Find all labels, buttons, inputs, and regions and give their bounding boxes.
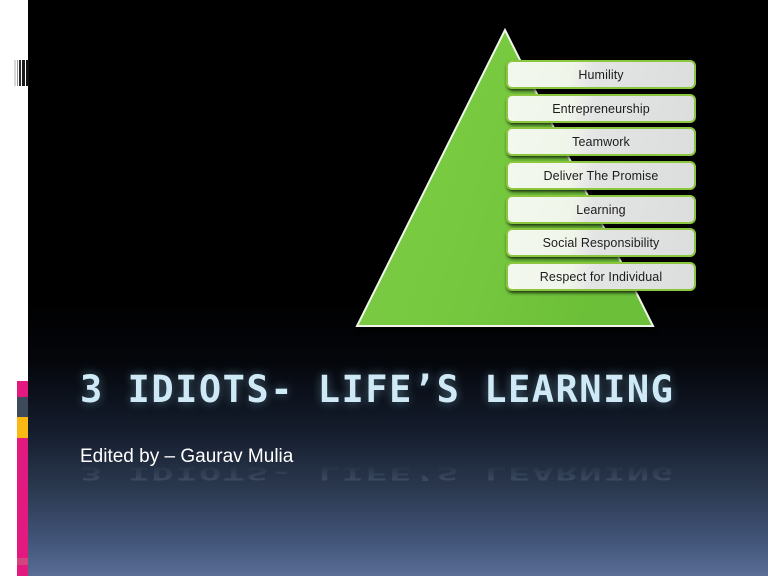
pyramid-level-label: Social Responsibility (543, 236, 660, 250)
barcode-stripe (26, 60, 29, 86)
accent-bar-pink-top (17, 381, 28, 397)
pyramid-level-2[interactable]: Entrepreneurship (506, 94, 696, 123)
pyramid-level-1[interactable]: Humility (506, 60, 696, 89)
slide-subtitle: Edited by – Gaurav Mulia (80, 446, 293, 468)
accent-bar-pink-tail (17, 558, 28, 565)
pyramid-level-3[interactable]: Teamwork (506, 127, 696, 156)
pyramid-level-6[interactable]: Social Responsibility (506, 228, 696, 257)
pyramid-level-label: Humility (578, 68, 623, 82)
barcode-decoration-icon (14, 60, 29, 86)
pyramid-level-label: Deliver The Promise (544, 169, 659, 183)
accent-bar-stack (17, 381, 28, 576)
pyramid-level-label: Entrepreneurship (552, 102, 650, 116)
pyramid-level-7[interactable]: Respect for Individual (506, 262, 696, 291)
pyramid-level-label: Learning (576, 203, 625, 217)
presentation-slide: Humility Entrepreneurship Teamwork Deliv… (0, 0, 768, 576)
pyramid-level-label: Respect for Individual (540, 270, 662, 284)
pyramid-level-5[interactable]: Learning (506, 195, 696, 224)
pyramid-level-list: Humility Entrepreneurship Teamwork Deliv… (506, 60, 700, 300)
accent-bar-slate (17, 397, 28, 417)
accent-bar-orange (17, 417, 28, 438)
slide-title: 3 IDIOTS- LIFE’S LEARNING (80, 368, 674, 411)
accent-bar-pink-long (17, 438, 28, 576)
pyramid-level-label: Teamwork (572, 135, 630, 149)
pyramid-level-4[interactable]: Deliver The Promise (506, 161, 696, 190)
